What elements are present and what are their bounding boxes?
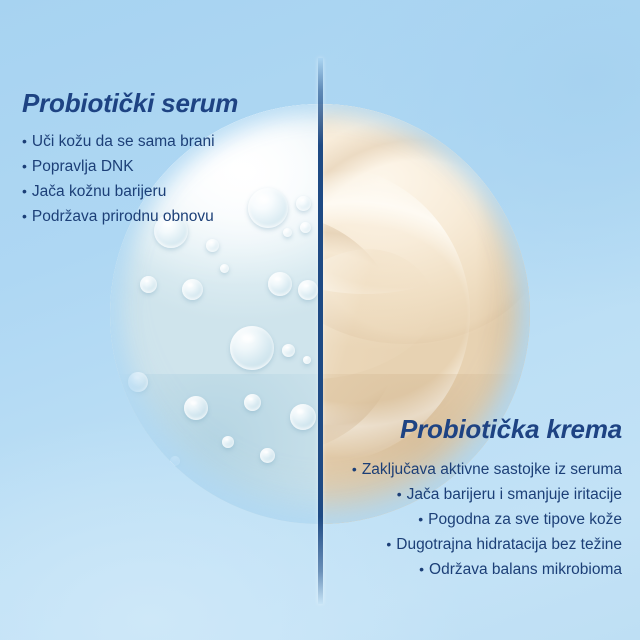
bullet-icon: • [419,561,424,577]
gel-droplet [244,394,261,411]
list-item-label: Jača barijeru i smanjuje iritacije [407,486,622,503]
bullet-icon: • [397,486,402,502]
list-item-label: Zaključava aktivne sastojke iz seruma [362,461,622,478]
list-item-label: Dugotrajna hidratacija bez težine [396,536,622,553]
gel-droplet [290,404,316,430]
gel-droplet [170,456,180,466]
list-item-label: Popravlja DNK [32,158,134,175]
gel-droplet [283,228,292,237]
gel-droplet [128,372,148,392]
gel-droplet [300,222,311,233]
bullet-icon: • [418,511,423,527]
bullet-icon: • [22,158,27,174]
vertical-divider [318,58,323,604]
bullet-icon: • [386,536,391,552]
list-item: •Uči kožu da se sama brani [22,129,238,154]
list-item: •Jača barijeru i smanjuje iritacije [352,482,622,507]
gel-droplet [260,448,275,463]
list-item: •Popravlja DNK [22,154,238,179]
list-item-label: Uči kožu da se sama brani [32,133,215,150]
gel-droplet [248,188,288,228]
gel-droplet [222,436,234,448]
cream-peak [320,234,448,394]
bullet-icon: • [22,183,27,199]
gel-droplet [298,280,318,300]
gel-droplet [184,396,208,420]
gel-droplet [140,276,157,293]
gel-droplet [268,272,292,296]
serum-heading: Probiotički serum [22,88,238,119]
list-item: •Zaključava aktivne sastojke iz seruma [352,457,622,482]
list-item-label: Jača kožnu barijeru [32,183,166,200]
serum-benefit-list: •Uči kožu da se sama brani •Popravlja DN… [22,129,238,229]
gel-droplet [220,264,229,273]
gel-droplet [206,239,219,252]
list-item: •Jača kožnu barijeru [22,179,238,204]
list-item: •Podržava prirodnu obnovu [22,204,238,229]
list-item-label: Podržava prirodnu obnovu [32,208,214,225]
list-item-label: Pogodna za sve tipove kože [428,511,622,528]
bullet-icon: • [352,461,357,477]
list-item: •Dugotrajna hidratacija bez težine [352,532,622,557]
gel-shadow [110,374,320,524]
list-item: •Održava balans mikrobioma [352,557,622,582]
list-item-label: Održava balans mikrobioma [429,561,622,578]
product-comparison-poster: Probiotički serum •Uči kožu da se sama b… [0,0,640,640]
cream-benefit-list: •Zaključava aktivne sastojke iz seruma •… [352,457,622,583]
serum-text-block: Probiotički serum •Uči kožu da se sama b… [22,88,238,229]
cream-heading: Probiotička krema [352,414,622,445]
gel-droplet [282,344,295,357]
gel-droplet [182,279,203,300]
gel-droplet [296,196,311,211]
list-item: •Pogodna za sve tipove kože [352,507,622,532]
cream-text-block: Probiotička krema •Zaključava aktivne sa… [352,414,622,583]
gel-droplet [230,326,274,370]
gel-droplet [303,356,311,364]
bullet-icon: • [22,208,27,224]
bullet-icon: • [22,133,27,149]
